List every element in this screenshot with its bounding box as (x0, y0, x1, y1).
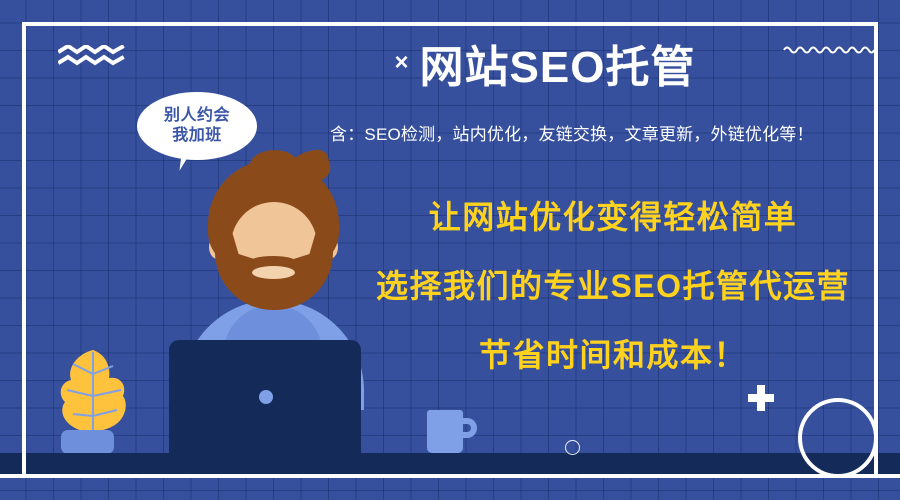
plus-icon (748, 385, 774, 411)
plant-pot (61, 430, 114, 454)
subtitle: 含：SEO检测，站内优化，友链交换，文章更新，外链优化等！ (330, 120, 890, 145)
slogan-line-1: 让网站优化变得轻松简单 (330, 192, 896, 238)
speech-bubble: 别人约会 我加班 (137, 92, 257, 160)
slogan-line-2: 选择我们的专业SEO托管代运营 (330, 261, 896, 307)
laptop-logo-dot (259, 390, 273, 404)
plant-leaf-icon (55, 348, 131, 438)
person-mouth (252, 266, 295, 279)
circle-outline-icon (565, 440, 580, 455)
slogan-block: 让网站优化变得轻松简单 选择我们的专业SEO托管代运营 节省时间和成本！ (330, 192, 896, 376)
desk-surface (0, 453, 900, 475)
speech-bubble-line-1: 别人约会 (164, 106, 230, 126)
corner-circle-icon (798, 398, 878, 478)
desk-edge-line (0, 474, 900, 478)
coffee-mug-handle (458, 418, 477, 438)
seo-hosting-banner: 别人约会 我加班 ×网站SEO托管 含：SEO检测，站内优化，友链交换，文章更新… (0, 0, 900, 500)
slogan-line-3: 节省时间和成本！ (330, 330, 896, 376)
page-title: ×网站SEO托管 (330, 44, 760, 92)
close-icon: × (395, 49, 410, 76)
page-title-text: 网站SEO托管 (420, 43, 696, 92)
speech-bubble-line-2: 我加班 (172, 126, 222, 146)
